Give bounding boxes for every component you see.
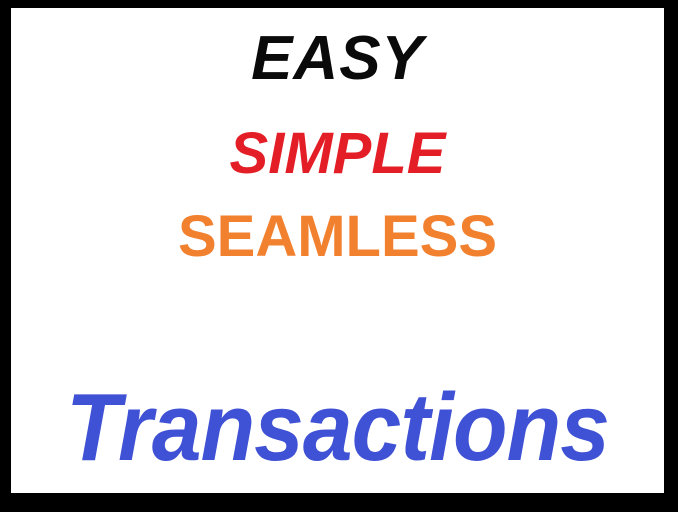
poster-canvas: EASY SIMPLE SEAMLESS Transactions	[11, 8, 664, 493]
poster-frame: EASY SIMPLE SEAMLESS Transactions	[0, 0, 678, 512]
headline-line-easy: EASY	[11, 28, 664, 90]
subject-word-transactions: Transactions	[34, 380, 641, 476]
headline-line-seamless: SEAMLESS	[11, 208, 664, 266]
headline-line-simple: SIMPLE	[11, 125, 664, 183]
